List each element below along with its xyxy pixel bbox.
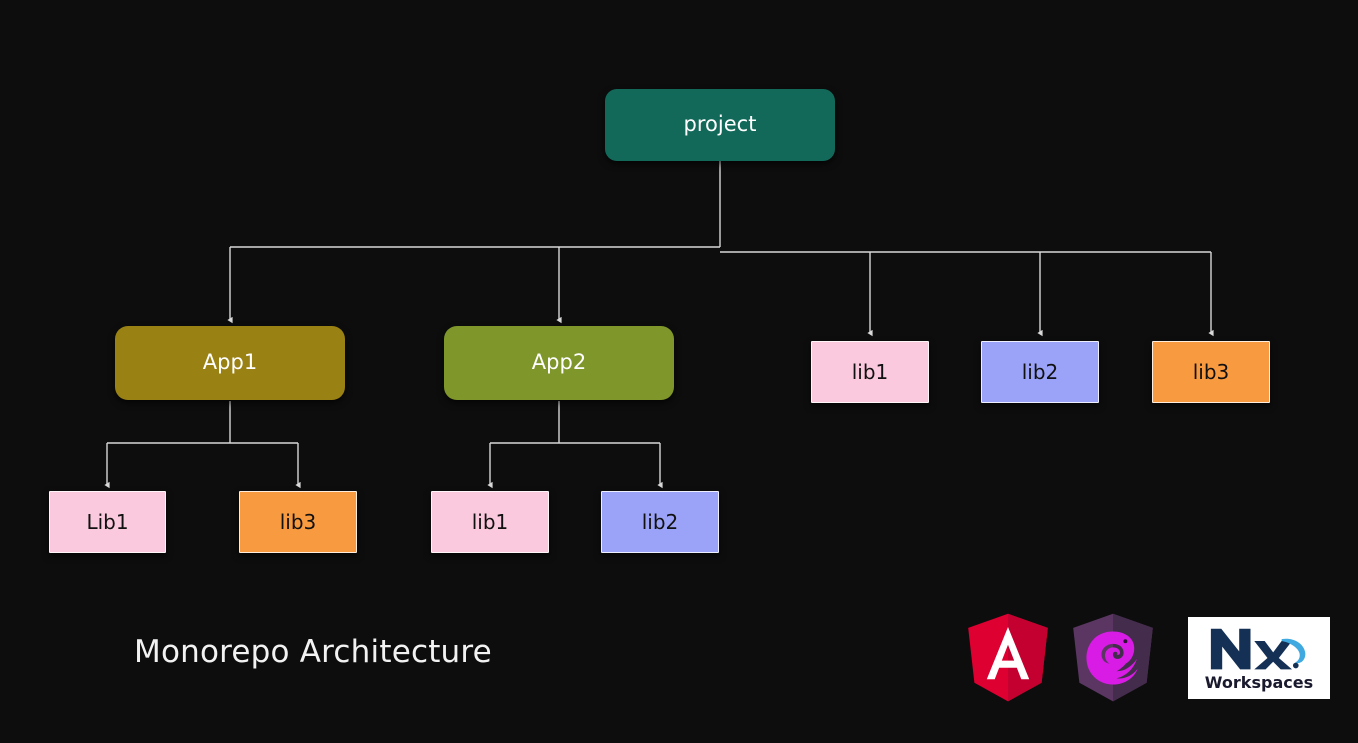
angular-logo	[963, 612, 1053, 704]
node-app1-child-lib1[interactable]: Lib1	[49, 491, 166, 553]
diagram-canvas: project App1 App2 lib1 lib2 lib3 Lib1 li…	[0, 0, 1358, 743]
node-app1-child-lib1-label: Lib1	[86, 511, 128, 533]
node-project[interactable]: project	[605, 89, 835, 161]
nx-wordmark-icon: Workspaces	[1192, 620, 1326, 696]
angular-shield-icon	[963, 612, 1053, 704]
node-app2[interactable]: App2	[444, 326, 674, 400]
node-app2-child-lib2-label: lib2	[642, 511, 679, 533]
node-app1[interactable]: App1	[115, 326, 345, 400]
node-app2-child-lib2[interactable]: lib2	[601, 491, 719, 553]
diagram-title: Monorepo Architecture	[134, 634, 492, 670]
rxjs-logo	[1068, 612, 1158, 704]
node-lib2-top-label: lib2	[1022, 361, 1059, 383]
node-app1-child-lib3[interactable]: lib3	[239, 491, 357, 553]
nx-logo: Workspaces	[1188, 617, 1330, 699]
node-app2-label: App2	[532, 351, 586, 374]
nx-workspaces-label: Workspaces	[1205, 673, 1313, 692]
node-lib1-top[interactable]: lib1	[811, 341, 929, 403]
node-lib3-top[interactable]: lib3	[1152, 341, 1270, 403]
node-lib3-top-label: lib3	[1193, 361, 1230, 383]
rxjs-shield-icon	[1068, 612, 1158, 704]
node-app1-child-lib3-label: lib3	[280, 511, 317, 533]
node-app2-child-lib1-label: lib1	[472, 511, 509, 533]
node-app1-label: App1	[203, 351, 257, 374]
node-lib1-top-label: lib1	[852, 361, 889, 383]
node-app2-child-lib1[interactable]: lib1	[431, 491, 549, 553]
node-project-label: project	[684, 113, 757, 136]
node-lib2-top[interactable]: lib2	[981, 341, 1099, 403]
